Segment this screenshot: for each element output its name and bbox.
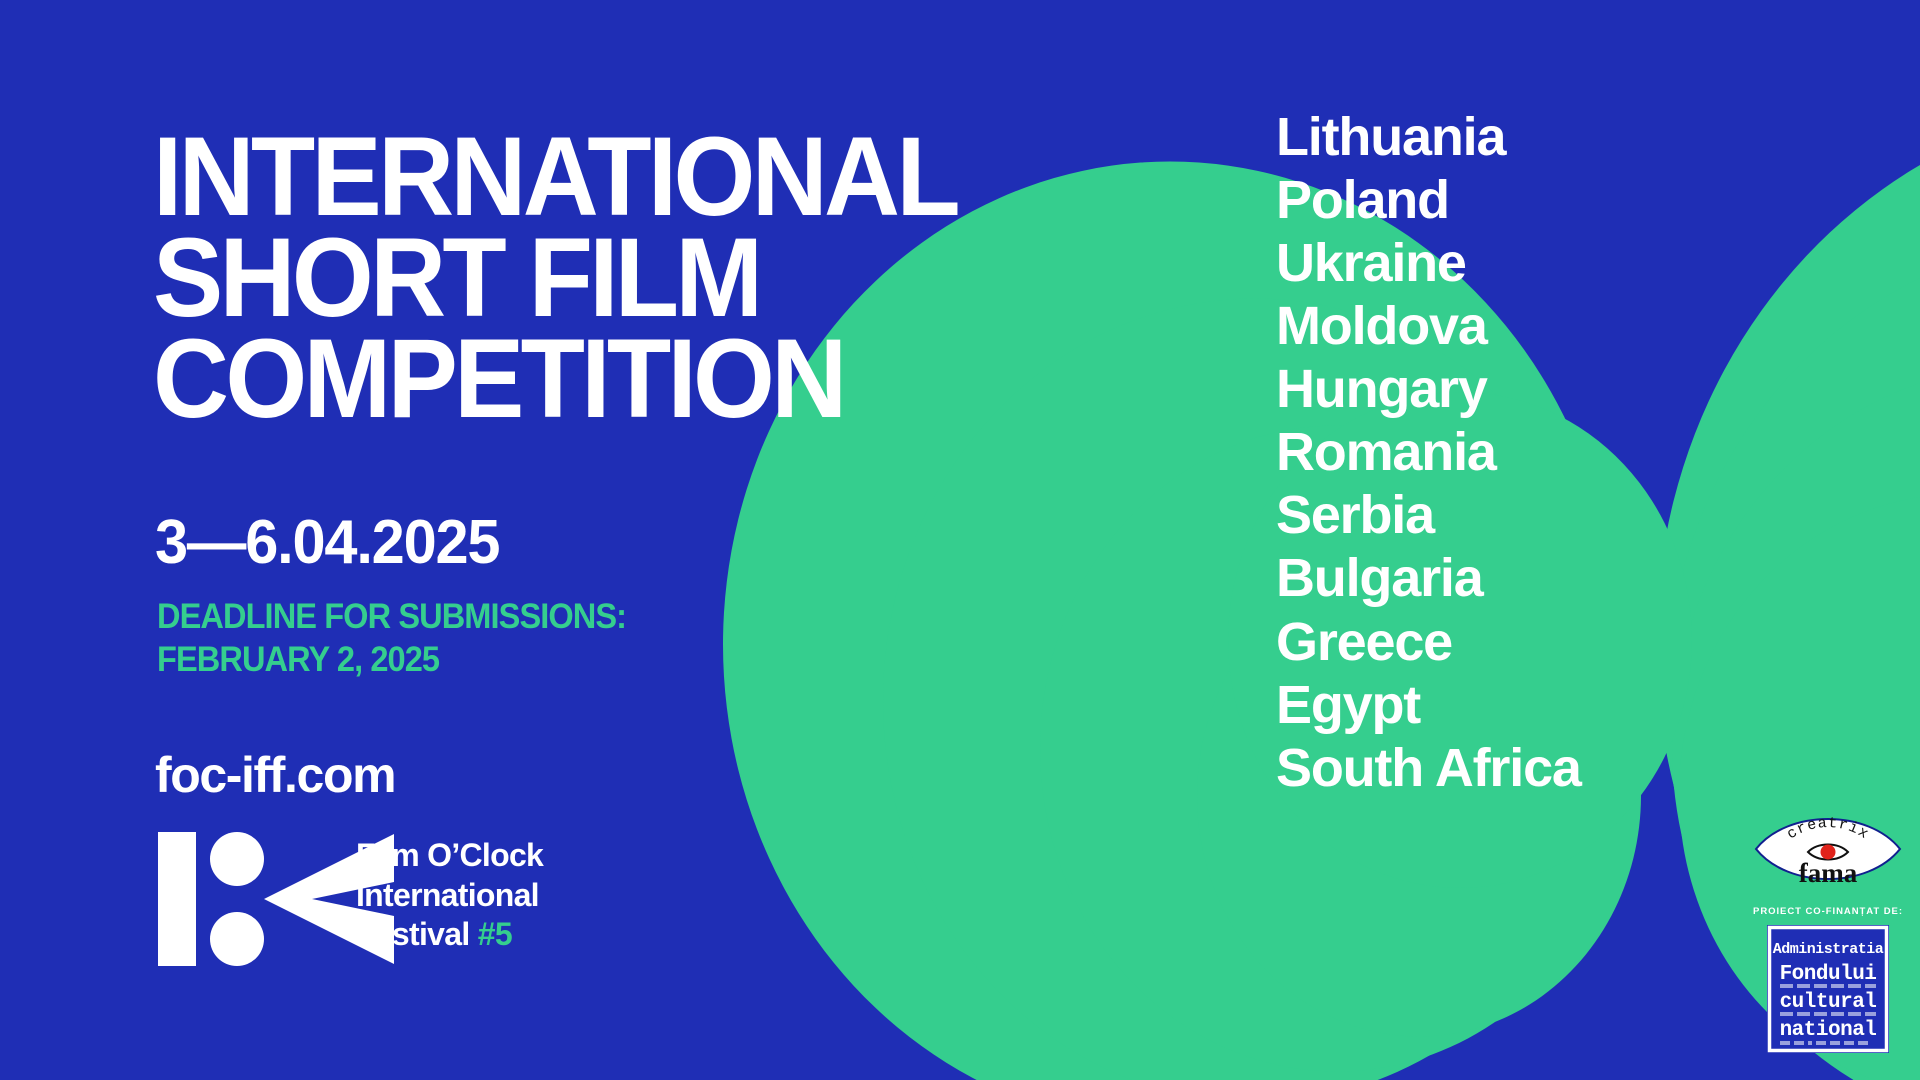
headline-line-2: SHORT FILM — [153, 228, 1093, 329]
list-item: Lithuania — [1276, 106, 1581, 169]
svg-text:national: national — [1780, 1019, 1877, 1042]
logo-circle-top — [210, 832, 264, 886]
website-url[interactable]: foc-iff.com — [155, 750, 395, 800]
list-item: Bulgaria — [1276, 547, 1581, 610]
list-item: Moldova — [1276, 295, 1581, 358]
svg-text:Fondului: Fondului — [1780, 963, 1877, 986]
afcn-logo-icon: Administratia Fondului cultural national — [1767, 925, 1889, 1053]
headline-line-1: INTERNATIONAL — [153, 127, 1093, 228]
svg-text:fama: fama — [1799, 858, 1858, 888]
page-title: INTERNATIONAL SHORT FILM COMPETITION — [153, 127, 1093, 429]
list-item: Egypt — [1276, 674, 1581, 737]
list-item: Ukraine — [1276, 232, 1581, 295]
logo-bar-shape — [158, 832, 196, 966]
list-item: Hungary — [1276, 358, 1581, 421]
svg-text:Administratia: Administratia — [1773, 941, 1884, 958]
submission-deadline: DEADLINE FOR SUBMISSIONS: FEBRUARY 2, 20… — [157, 595, 626, 681]
film-oclock-logo-icon — [158, 830, 336, 968]
poster-canvas: INTERNATIONAL SHORT FILM COMPETITION 3—6… — [0, 0, 1920, 1080]
sponsors-block: creatrix fama PROIECT CO-FINANȚAT DE: Ad… — [1742, 806, 1914, 1053]
list-item: Romania — [1276, 421, 1581, 484]
cofinance-label: PROIECT CO-FINANȚAT DE: — [1753, 906, 1903, 917]
list-item: Poland — [1276, 169, 1581, 232]
headline-line-3: COMPETITION — [153, 329, 1093, 430]
list-item: Greece — [1276, 611, 1581, 674]
participating-countries-list: Lithuania Poland Ukraine Moldova Hungary… — [1276, 106, 1581, 800]
svg-text:cultural: cultural — [1780, 991, 1877, 1014]
list-item: South Africa — [1276, 737, 1581, 800]
festival-logo-lockup: Film O’Clock International Festival #5 — [158, 830, 543, 968]
deadline-date: FEBRUARY 2, 2025 — [157, 638, 626, 681]
list-item: Serbia — [1276, 484, 1581, 547]
logo-circle-bottom — [210, 912, 264, 966]
deadline-label: DEADLINE FOR SUBMISSIONS: — [157, 595, 626, 638]
creatrix-fama-logo-icon: creatrix fama — [1753, 806, 1903, 892]
festival-edition-badge: #5 — [478, 916, 512, 952]
logo-chevron-icon — [264, 834, 394, 964]
festival-dates: 3—6.04.2025 — [155, 512, 499, 574]
